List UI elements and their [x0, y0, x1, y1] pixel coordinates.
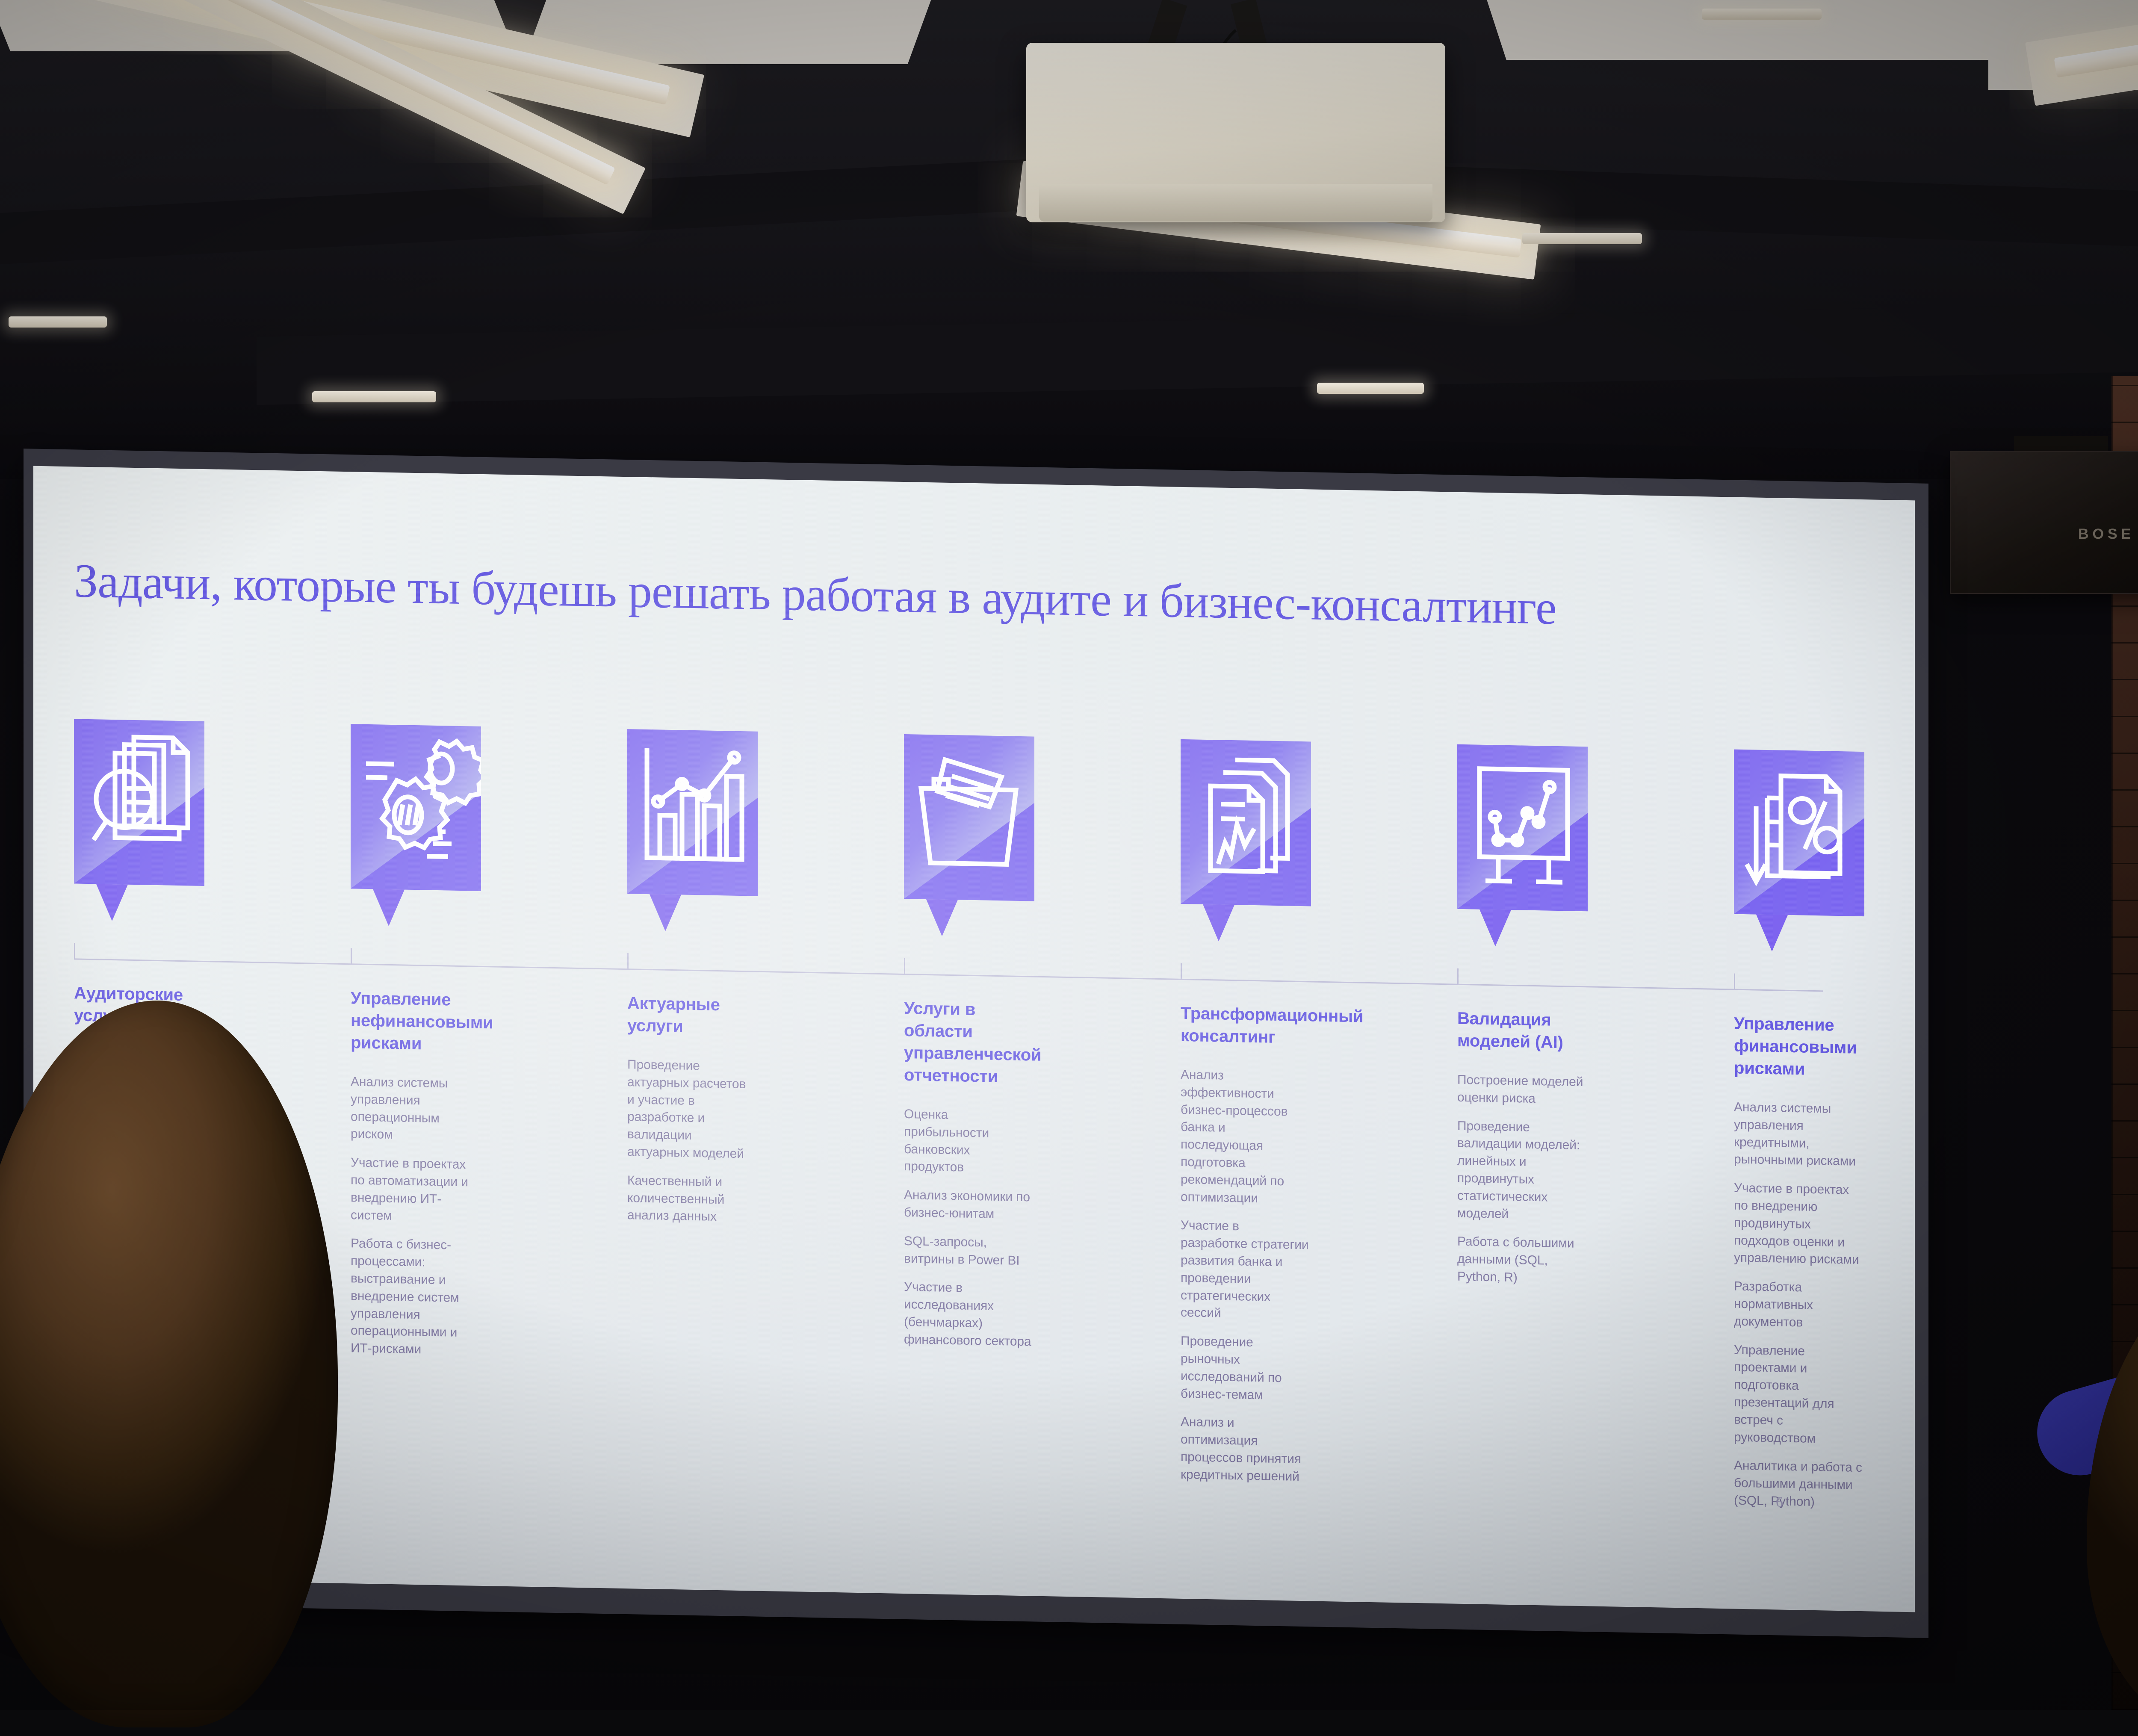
column-finansovye-riski: Управление финансовыми рисками Анализ си… [1734, 1013, 1862, 1523]
bar-chart-trend-icon [627, 729, 758, 896]
timeline-tick [351, 948, 352, 963]
column-item: Участие в исследованиях (бенчмарках) фин… [904, 1278, 1032, 1351]
column-item: Работа с большими данными (SQL, Python, … [1457, 1233, 1586, 1288]
lecture-room-scene: BOSE Задачи, которые ты будешь решать ра… [0, 0, 2138, 1710]
badge-folder-document [904, 734, 1034, 901]
timeline-tick [74, 943, 75, 958]
projector-lens-housing [1039, 184, 1432, 221]
badge-line-chart-board [1457, 744, 1588, 912]
ceiling-light-tube [312, 391, 436, 402]
column-heading: Услуги в области управленческой отчетнос… [904, 997, 1032, 1088]
gears-settings-icon [351, 724, 481, 891]
service-columns: Аудиторские услуги Проверка финансовых д… [74, 982, 1861, 1549]
ceiling-light-tube [1702, 9, 1822, 20]
timeline-tick [627, 953, 629, 968]
badge-gears-settings [351, 724, 481, 891]
column-item: Проведение валидации моделей: линейных и… [1457, 1117, 1586, 1224]
stacked-reports-chart-icon [1181, 739, 1311, 906]
column-item: Оценка прибыльности банковских продуктов [904, 1106, 1032, 1178]
page-title: Задачи, которые ты будешь решать работая… [74, 552, 1823, 641]
ceiling-light-tube [9, 316, 107, 328]
column-item: Участие в разработке стратегии развития … [1181, 1217, 1309, 1324]
folder-document-icon [904, 734, 1034, 901]
column-item: Анализ эффективности бизнес-процессов ба… [1181, 1066, 1309, 1208]
badge-percent-document-arrow [1734, 750, 1864, 917]
column-item: Участие в проектах по автоматизации и вн… [351, 1154, 479, 1226]
column-item: Анализ и оптимизация процессов принятия … [1181, 1414, 1309, 1486]
column-heading: Управление финансовыми рисками [1734, 1013, 1862, 1081]
ceiling-light-tube [1317, 383, 1424, 394]
column-heading: Актуарные услуги [627, 992, 756, 1039]
column-item: Участие в проектах по внедрению продвину… [1734, 1180, 1862, 1269]
timeline-tick [1734, 974, 1735, 989]
line-chart-board-icon [1457, 744, 1588, 912]
column-item: Аналитика и работа с большими данными (S… [1734, 1457, 1862, 1512]
column-validaciya-modelej: Валидация моделей (AI) Построение моделе… [1457, 1007, 1586, 1299]
badge-document-magnifier [74, 719, 204, 886]
column-aktuarnye-uslugi: Актуарные услуги Проведение актуарных ра… [627, 992, 756, 1238]
ceiling-light-tube [1522, 233, 1642, 244]
badge-stacked-reports-chart [1181, 739, 1311, 906]
icon-badge-row [74, 719, 1861, 948]
column-item: Проведение рыночных исследований по бизн… [1181, 1333, 1309, 1405]
timeline-tick [1457, 968, 1459, 984]
speaker-brand-label: BOSE [2078, 526, 2135, 543]
percent-document-arrow-icon [1734, 750, 1864, 917]
column-nefinansovye-riski: Управление нефинансовыми рисками Анализ … [351, 987, 479, 1370]
column-item: Анализ системы управления операционным р… [351, 1073, 479, 1146]
column-heading: Управление нефинансовыми рисками [351, 987, 479, 1056]
document-magnifier-icon [74, 719, 204, 886]
column-item: Анализ системы управления кредитными, ры… [1734, 1099, 1862, 1171]
column-heading: Трансформационный консалтинг [1181, 1002, 1309, 1049]
wall-speaker [1950, 451, 2138, 594]
column-item: Проведение актуарных расчетов и участие … [627, 1056, 756, 1163]
column-transformacionnyj-konsalting: Трансформационный консалтинг Анализ эффе… [1181, 1002, 1309, 1497]
column-item: Построение моделей оценки риска [1457, 1072, 1586, 1109]
badge-bar-chart-trend [627, 729, 758, 896]
column-item: Управление проектами и подготовка презен… [1734, 1341, 1862, 1448]
column-upravlencheskaya-otchetnost: Услуги в области управленческой отчетнос… [904, 997, 1032, 1362]
slide-page-number: 6 [1776, 1494, 1783, 1510]
timeline-tick [1181, 963, 1182, 979]
timeline-tick [904, 958, 905, 974]
column-item: SQL-запросы, витрины в Power BI [904, 1233, 1032, 1270]
column-item: Качественный и количественный анализ дан… [627, 1172, 756, 1227]
column-item: Разработка нормативных документов [1734, 1278, 1862, 1333]
column-heading: Валидация моделей (AI) [1457, 1007, 1586, 1054]
column-item: Анализ экономики по бизнес-юнитам [904, 1187, 1032, 1224]
column-item: Работа с бизнес-процессами: выстраивание… [351, 1235, 479, 1360]
